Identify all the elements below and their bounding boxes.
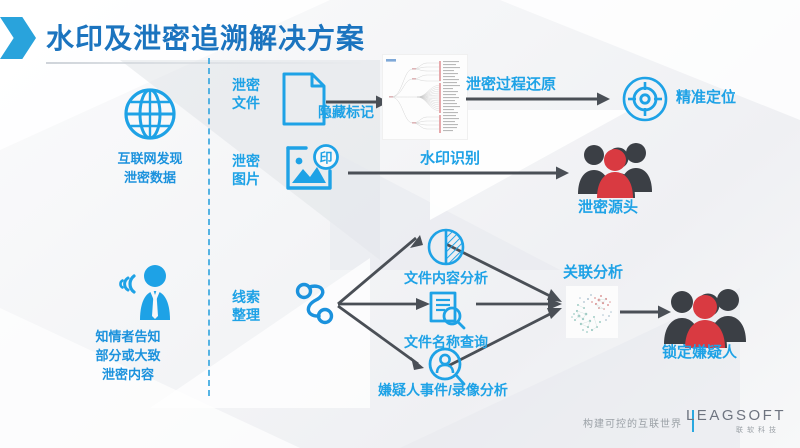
- source-1-caption: 互联网发现 泄密数据: [75, 150, 225, 188]
- person-search-icon: [428, 348, 466, 386]
- document-search-icon: [428, 290, 466, 330]
- stage-label-leaked-file: 泄密 文件: [232, 76, 260, 112]
- nodes-icon: [292, 282, 336, 326]
- chevron-icon: [0, 17, 36, 59]
- seal-text: 印: [319, 151, 332, 166]
- label-lock-suspects: 锁定嫌疑人: [662, 344, 737, 363]
- label-leak-process-restore: 泄密过程还原: [466, 76, 556, 95]
- logo-name: LEAGSOFT: [686, 407, 786, 424]
- label-file-content-analysis: 文件内容分析: [404, 270, 488, 288]
- people-group-icon: [660, 288, 752, 348]
- stage-label-leaked-file-line2: 文件: [232, 94, 260, 112]
- source-1-caption-line1: 互联网发现: [75, 150, 225, 169]
- dendrogram-thumbnail: [382, 54, 468, 140]
- picture-seal-icon: 印: [284, 145, 340, 191]
- label-suspect-event-video-analysis: 嫌疑人事件/录像分析: [378, 382, 508, 400]
- slide-canvas: 水印及泄密追溯解决方案 互联网发现 泄密数据: [0, 0, 800, 448]
- pie-chart-icon: [427, 228, 465, 266]
- logo-subtitle: 联软科技: [736, 425, 780, 435]
- label-leak-source: 泄密源头: [578, 199, 638, 218]
- label-hidden-mark: 隐藏标记: [318, 104, 374, 122]
- title-underline: [46, 62, 368, 64]
- stage-label-leaked-file-line1: 泄密: [232, 76, 260, 94]
- people-group-icon: [574, 142, 658, 198]
- stage-label-clue-sorting-line2: 整理: [232, 306, 260, 324]
- stage-label-leaked-image: 泄密 图片: [232, 152, 260, 188]
- source-1-caption-line2: 泄密数据: [75, 169, 225, 188]
- source-2-caption-line2: 部分或大致: [53, 347, 203, 366]
- footer-tagline: 构建可控的互联世界: [583, 415, 682, 430]
- cluster-scatter-thumbnail: [566, 286, 618, 338]
- target-icon: [622, 76, 668, 122]
- source-2-caption-line3: 泄密内容: [53, 366, 203, 385]
- stage-label-leaked-image-line1: 泄密: [232, 152, 260, 170]
- stage-label-clue-sorting-line1: 线索: [232, 288, 260, 306]
- section-divider: [208, 58, 210, 396]
- page-title: 水印及泄密追溯解决方案: [46, 18, 365, 60]
- stage-label-leaked-image-line2: 图片: [232, 170, 260, 188]
- source-2-caption: 知情者告知 部分或大致 泄密内容: [53, 328, 203, 385]
- label-watermark-recognition: 水印识别: [420, 150, 480, 169]
- stage-label-clue-sorting: 线索 整理: [232, 288, 260, 324]
- globe-icon: [124, 88, 176, 140]
- source-2-caption-line1: 知情者告知: [53, 328, 203, 347]
- label-precise-location: 精准定位: [676, 89, 736, 108]
- informant-icon: [120, 262, 182, 320]
- label-association-analysis: 关联分析: [563, 264, 623, 283]
